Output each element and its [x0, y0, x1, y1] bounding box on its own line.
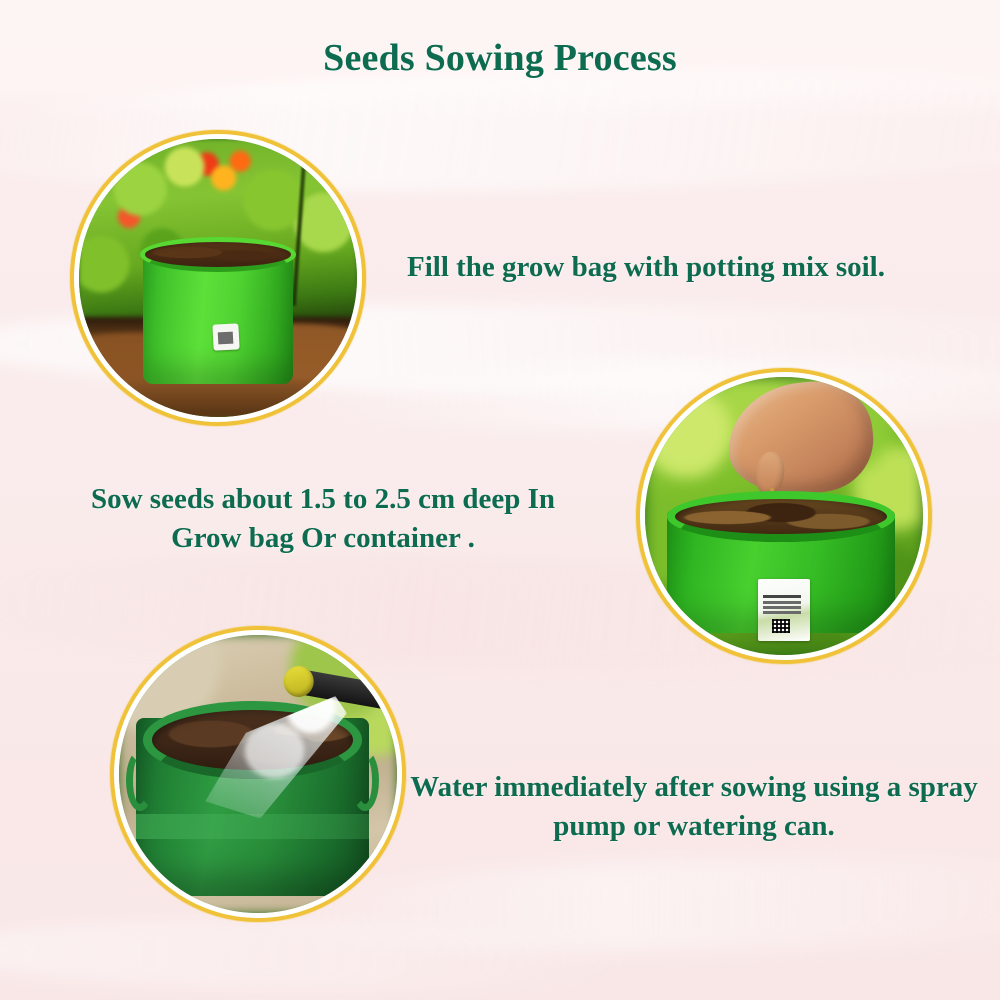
step-1-photo — [70, 130, 366, 426]
grow-bag-stripe — [136, 814, 370, 839]
step-3-photo-image — [119, 635, 397, 913]
step-2-photo-image — [645, 377, 923, 655]
step-2-caption: Sow seeds about 1.5 to 2.5 cm deep In Gr… — [64, 480, 582, 558]
grow-bag-wide — [667, 510, 895, 632]
product-label — [758, 579, 810, 641]
qr-code-icon — [772, 619, 790, 633]
step-1-photo-image — [79, 139, 357, 417]
step-3-caption: Water immediately after sowing using a s… — [396, 768, 992, 846]
grow-bag-handle-left — [126, 750, 154, 810]
page-title: Seeds Sowing Process — [0, 36, 1000, 80]
step-3-photo — [110, 626, 406, 922]
grow-bag-tag — [213, 323, 240, 350]
infographic-poster: Seeds Sowing Process Fill the grow bag w… — [0, 0, 1000, 1000]
grow-bag-handle-right — [351, 750, 379, 810]
step-1-caption: Fill the grow bag with potting mix soil. — [378, 248, 914, 287]
grow-bag-rim — [667, 491, 895, 542]
step-2-photo — [636, 368, 932, 664]
grow-bag — [143, 250, 293, 383]
label-text-lines — [763, 595, 801, 598]
